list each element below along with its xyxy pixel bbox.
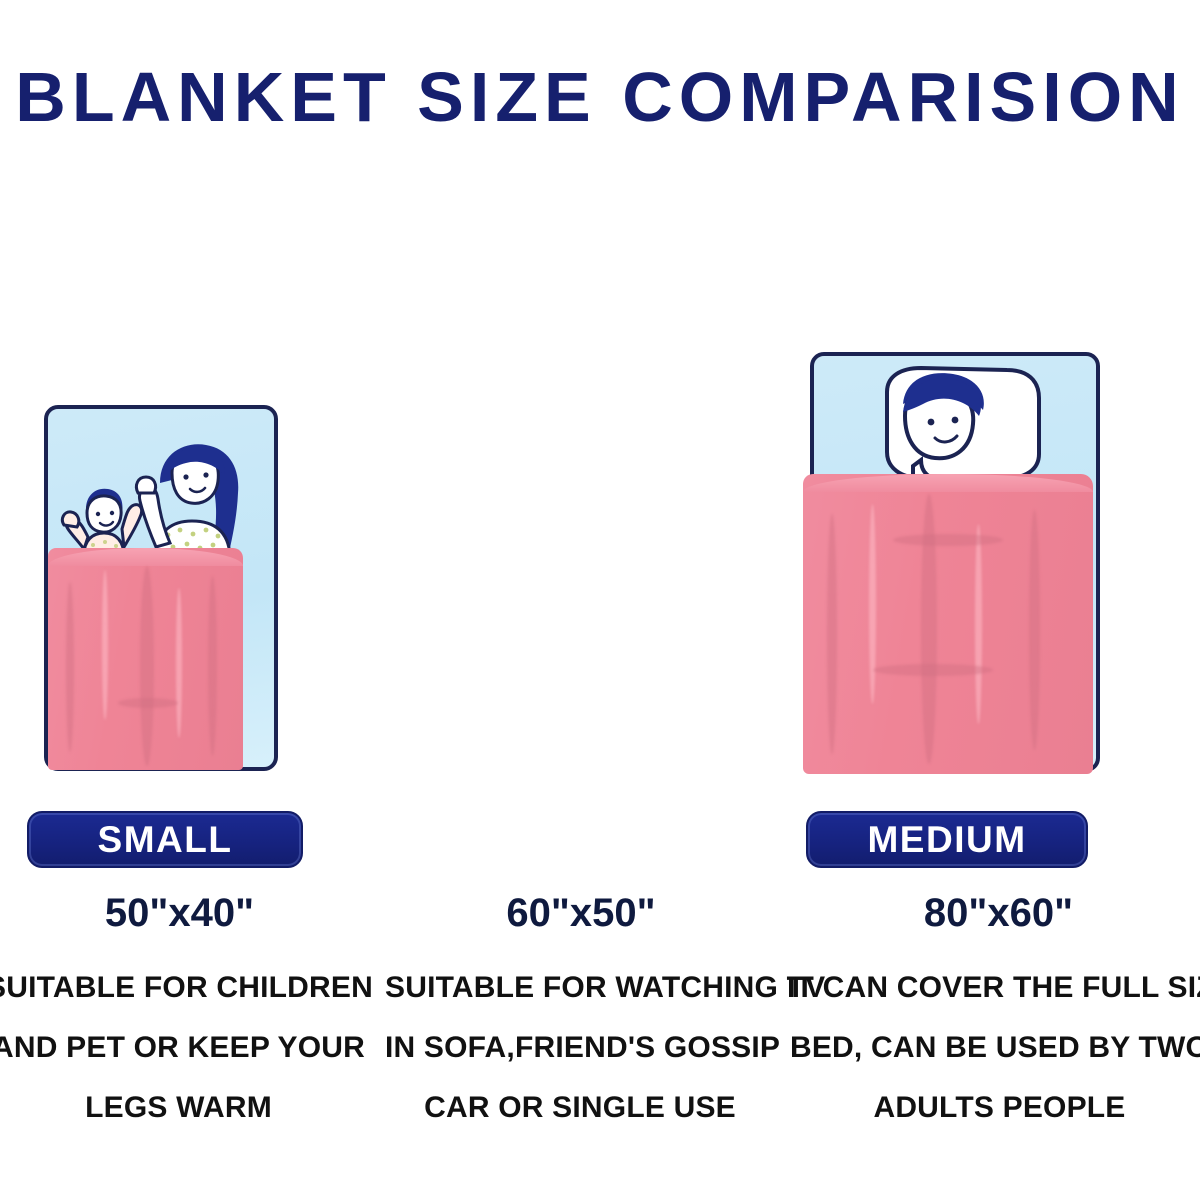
dimension-label-small: 50"x40" [0, 893, 372, 933]
blanket-medium [803, 474, 1093, 774]
blanket-small [48, 548, 243, 770]
description-line: LEGS WARM [0, 1078, 371, 1138]
person-on-pillow-icon [865, 362, 1065, 492]
blanket-top-edge-medium [803, 474, 1093, 492]
description-line: CAR OR SINGLE USE [385, 1078, 775, 1138]
description-line: ADULTS PEOPLE [787, 1078, 1200, 1138]
description-large: IT CAN COVER THE FULL SIZE BED, CAN BE U… [787, 958, 1200, 1138]
description-line: SUITABLE FOR WATCHING TV [385, 958, 775, 1018]
blanket-top-edge-small [48, 548, 243, 566]
size-badge-small[interactable]: SMALL [27, 811, 303, 868]
size-column-small: SMALL 50"x40" SUITABLE FOR CHILDREN AND … [0, 0, 385, 1200]
description-line: IN SOFA,FRIEND'S GOSSIP [385, 1018, 775, 1078]
size-column-medium: MEDIUM 60"x50" SUITABLE FOR WATCHING TV … [385, 0, 775, 1200]
description-line: SUITABLE FOR CHILDREN [0, 958, 371, 1018]
description-line: BED, CAN BE USED BY TWO [787, 1018, 1200, 1078]
description-line: AND PET OR KEEP YOUR [0, 1018, 371, 1078]
dimension-label-large: 80"x60" [786, 893, 1200, 933]
size-comparison-columns: SMALL 50"x40" SUITABLE FOR CHILDREN AND … [0, 0, 1200, 1200]
illustration-figures-medium [865, 362, 1065, 492]
description-line: IT CAN COVER THE FULL SIZE [787, 958, 1200, 1018]
description-small: SUITABLE FOR CHILDREN AND PET OR KEEP YO… [0, 958, 371, 1138]
size-badge-label-small: SMALL [98, 821, 233, 858]
description-medium: SUITABLE FOR WATCHING TV IN SOFA,FRIEND'… [385, 958, 775, 1138]
dimension-label-medium: 60"x50" [386, 893, 776, 933]
